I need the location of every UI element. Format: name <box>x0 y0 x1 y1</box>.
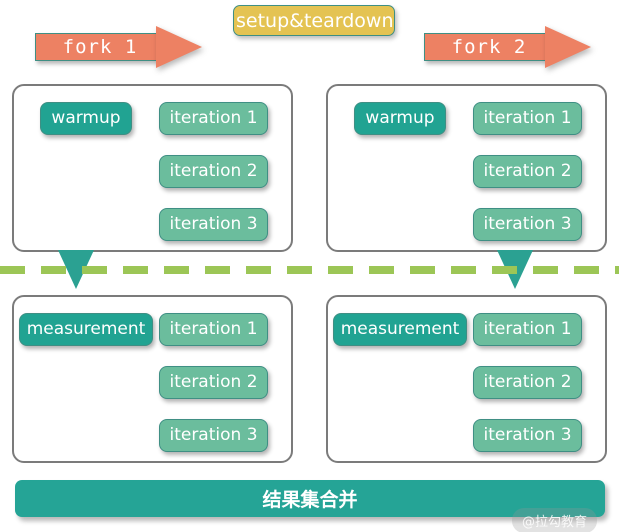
iteration-label: iteration 3 <box>483 427 571 444</box>
iteration-label: iteration 2 <box>169 163 257 180</box>
setup-teardown-box: setup&teardown <box>233 5 395 36</box>
warmup-iteration-2-fork-1: iteration 2 <box>159 155 268 188</box>
warmup-panel-fork-2: warmup iteration 1 iteration 2 iteration… <box>326 84 607 252</box>
warmup-iteration-3-fork-2: iteration 3 <box>473 208 582 241</box>
warmup-iteration-2-fork-2: iteration 2 <box>473 155 582 188</box>
measurement-panel-fork-1: measurement iteration 1 iteration 2 iter… <box>12 295 293 463</box>
fork-2-arrow: fork 2 <box>424 26 592 68</box>
diagram-canvas: fork 1 setup&teardown fork 2 warmup iter… <box>0 0 619 532</box>
warmup-iteration-1-fork-2: iteration 1 <box>473 102 582 135</box>
measurement-chip-label: measurement <box>27 321 146 338</box>
warmup-iteration-3-fork-1: iteration 3 <box>159 208 268 241</box>
measurement-iteration-2-fork-2: iteration 2 <box>473 366 582 399</box>
fork-1-label: fork 1 <box>35 33 165 61</box>
iteration-label: iteration 1 <box>169 321 257 338</box>
measurement-panel-fork-2: measurement iteration 1 iteration 2 iter… <box>326 295 607 463</box>
iteration-label: iteration 2 <box>483 374 571 391</box>
measurement-iteration-1-fork-1: iteration 1 <box>159 313 268 346</box>
measurement-chip-fork-2: measurement <box>333 313 467 346</box>
iteration-label: iteration 1 <box>169 110 257 127</box>
measurement-iteration-3-fork-1: iteration 3 <box>159 419 268 452</box>
measurement-chip-fork-1: measurement <box>19 313 153 346</box>
iteration-label: iteration 3 <box>169 427 257 444</box>
measurement-iteration-2-fork-1: iteration 2 <box>159 366 268 399</box>
iteration-label: iteration 3 <box>169 216 257 233</box>
result-merge-bar: 结果集合并 @拉勾教育 <box>15 480 605 517</box>
phase-separator-dashed-line <box>0 266 619 274</box>
result-merge-label: 结果集合并 <box>262 485 357 512</box>
measurement-iteration-3-fork-2: iteration 3 <box>473 419 582 452</box>
warmup-chip-fork-1: warmup <box>40 102 132 135</box>
fork-1-arrow: fork 1 <box>35 26 203 68</box>
iteration-label: iteration 1 <box>483 321 571 338</box>
measurement-chip-label: measurement <box>341 321 460 338</box>
watermark: @拉勾教育 <box>512 508 597 532</box>
iteration-label: iteration 2 <box>483 163 571 180</box>
warmup-iteration-1-fork-1: iteration 1 <box>159 102 268 135</box>
warmup-chip-label: warmup <box>51 110 120 127</box>
iteration-label: iteration 2 <box>169 374 257 391</box>
iteration-label: iteration 3 <box>483 216 571 233</box>
warmup-panel-fork-1: warmup iteration 1 iteration 2 iteration… <box>12 84 293 252</box>
measurement-iteration-1-fork-2: iteration 1 <box>473 313 582 346</box>
iteration-label: iteration 1 <box>483 110 571 127</box>
warmup-chip-fork-2: warmup <box>354 102 446 135</box>
setup-teardown-label: setup&teardown <box>236 6 402 37</box>
fork-2-label: fork 2 <box>424 33 554 61</box>
warmup-chip-label: warmup <box>365 110 434 127</box>
